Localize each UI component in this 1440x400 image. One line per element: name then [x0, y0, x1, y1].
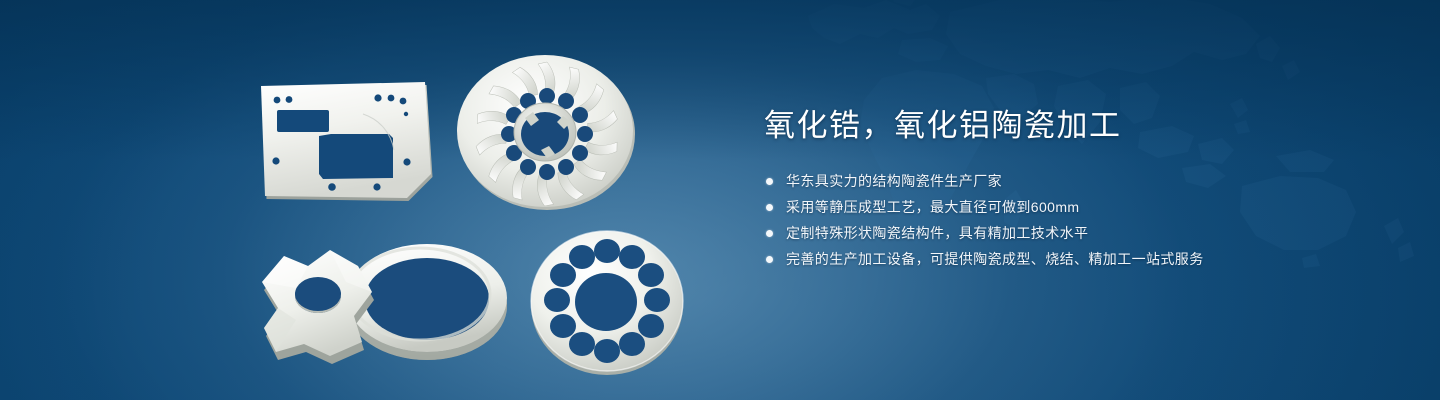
list-item: 采用等静压成型工艺，最大直径可做到600mm — [764, 198, 1364, 217]
bullet-dot-icon — [766, 178, 773, 185]
list-item-label: 华东具实力的结构陶瓷件生产厂家 — [786, 173, 1002, 189]
bullet-dot-icon — [766, 230, 773, 237]
bullet-dot-icon — [766, 204, 773, 211]
banner-copy: 氧化锆，氧化铝陶瓷加工 华东具实力的结构陶瓷件生产厂家 采用等静压成型工艺，最大… — [764, 106, 1364, 276]
ceramic-cross-part-and-ring-image — [252, 228, 524, 374]
list-item: 定制特殊形状陶瓷结构件，具有精加工技术水平 — [764, 224, 1364, 243]
list-item-label: 定制特殊形状陶瓷结构件，具有精加工技术水平 — [786, 225, 1088, 241]
bullet-dot-icon — [766, 256, 773, 263]
page-title: 氧化锆，氧化铝陶瓷加工 — [764, 106, 1364, 146]
product-image-group — [0, 0, 720, 400]
list-item-label: 完善的生产加工设备，可提供陶瓷成型、烧结、精加工一站式服务 — [786, 251, 1204, 267]
list-item-label: 采用等静压成型工艺，最大直径可做到600mm — [786, 199, 1079, 215]
list-item: 华东具实力的结构陶瓷件生产厂家 — [764, 172, 1364, 191]
list-item: 完善的生产加工设备，可提供陶瓷成型、烧结、精加工一站式服务 — [764, 250, 1364, 269]
ceramic-impeller-rotor-image — [452, 52, 642, 217]
promo-banner: 氧化锆，氧化铝陶瓷加工 华东具实力的结构陶瓷件生产厂家 采用等静压成型工艺，最大… — [0, 0, 1440, 400]
feature-list: 华东具实力的结构陶瓷件生产厂家 采用等静压成型工艺，最大直径可做到600mm 定… — [764, 172, 1364, 269]
ceramic-perforated-disc-image — [518, 222, 696, 380]
ceramic-machined-plate-image — [255, 78, 437, 204]
